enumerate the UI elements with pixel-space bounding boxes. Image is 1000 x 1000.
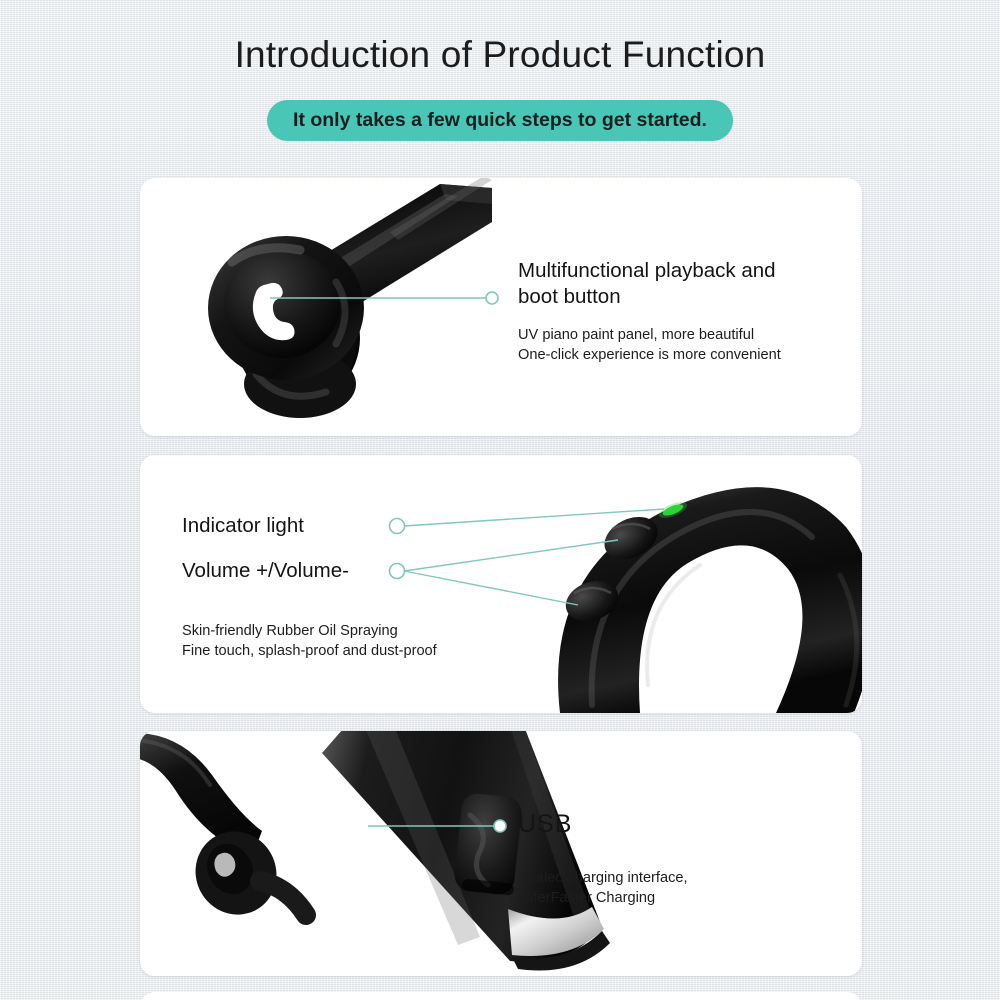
usb-port-illustration (140, 731, 862, 976)
earbud-housing (208, 236, 364, 380)
indicator-light-label: Indicator light (182, 513, 304, 539)
card-multifunction-button[interactable]: Multifunctional playback and boot button… (140, 178, 862, 436)
product-infographic-page: Introduction of Product Function It only… (0, 0, 1000, 1000)
card-3-callout-title: USB (518, 811, 848, 837)
card-3-callout-sub: Sealed charging interface, saferFaster C… (518, 868, 848, 908)
ear-hook-illustration (140, 455, 862, 713)
card-1-callout-title: Multifunctional playback and boot button (518, 258, 848, 310)
card-2-callout-sub: Skin-friendly Rubber Oil Spraying Fine t… (182, 621, 522, 661)
usb-port-cover (453, 792, 523, 896)
card-usb[interactable]: USB Sealed charging interface, saferFast… (140, 731, 862, 976)
card-indicator-and-volume[interactable]: Indicator light Volume +/Volume- Skin-fr… (140, 455, 862, 713)
card-1-callout-sub: UV piano paint panel, more beautiful One… (518, 325, 848, 365)
subtitle-badge: It only takes a few quick steps to get s… (267, 100, 733, 141)
secondary-earbud (181, 817, 306, 929)
volume-label: Volume +/Volume- (182, 558, 349, 584)
next-card-peek[interactable] (140, 992, 862, 1000)
page-title: Introduction of Product Function (0, 32, 1000, 78)
